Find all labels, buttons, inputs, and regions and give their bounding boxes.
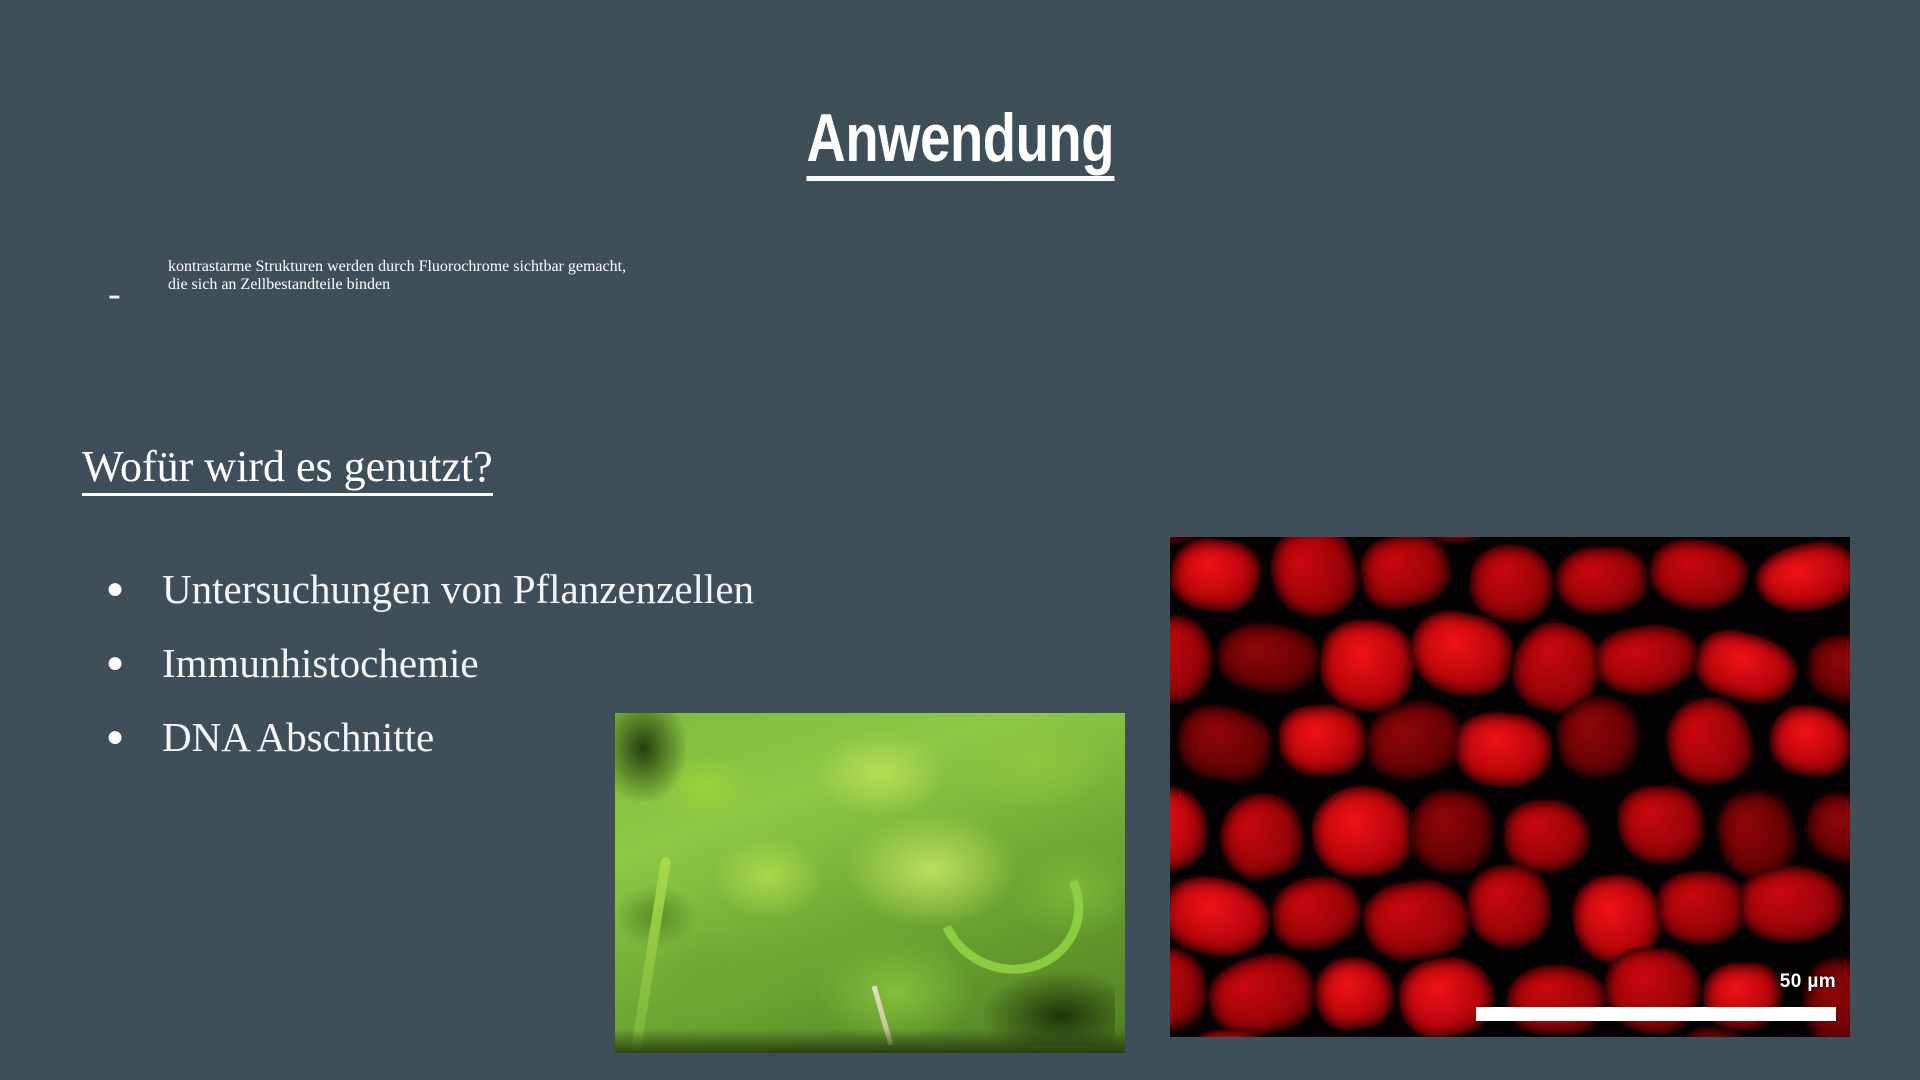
micrograph-cell <box>1216 621 1322 695</box>
micrograph-cell <box>1466 540 1559 626</box>
micrograph-cell <box>1170 943 1210 1037</box>
red-fluorescence-micrograph: 50 µm <box>1170 537 1850 1037</box>
micrograph-cell <box>1766 701 1850 780</box>
intro-paragraph: - kontrastarme Strukturen werden durch F… <box>108 258 1848 331</box>
micrograph-cell <box>1464 861 1554 951</box>
micrograph-cell <box>1659 690 1760 793</box>
micrograph-cell <box>1751 537 1850 619</box>
micrograph-cell <box>1702 962 1783 1032</box>
micrograph-cell <box>1314 613 1420 717</box>
list-item: ● Untersuchungen von Pflanzenzellen <box>92 560 1052 618</box>
micrograph-cell <box>1172 700 1278 789</box>
micrograph-cell <box>1502 537 1619 545</box>
scale-bar-label: 50 µm <box>1780 971 1836 993</box>
micrograph-cell <box>1211 785 1314 889</box>
micrograph-cell <box>1407 787 1496 875</box>
micrograph-cell <box>1502 798 1591 875</box>
page-title-container: Anwendung <box>0 104 1920 181</box>
moss-shadow-top-left <box>615 713 686 801</box>
page-title: Anwendung <box>806 104 1114 181</box>
micrograph-cell <box>1260 537 1368 628</box>
micrograph-cell <box>1311 952 1399 1034</box>
bullet-dot-icon: ● <box>92 708 162 766</box>
presentation-slide: Anwendung - kontrastarme Strukturen werd… <box>0 0 1920 1080</box>
micrograph-cell <box>1800 537 1850 538</box>
micrograph-cell <box>1807 634 1850 702</box>
micrograph-cell <box>1309 782 1417 881</box>
micrograph-cell <box>1507 965 1608 1036</box>
micrograph-cell <box>1262 1036 1365 1037</box>
micrograph-cell <box>1800 788 1850 871</box>
micrograph-cell <box>1394 951 1500 1037</box>
list-item-label: Untersuchungen von Pflanzenzellen <box>162 560 754 618</box>
micrograph-cell <box>1803 957 1850 1037</box>
scale-bar <box>1476 1007 1836 1021</box>
micrograph-cell <box>1170 692 1174 793</box>
moss-ground-shadow <box>615 1029 1125 1053</box>
bullet-dot-icon: ● <box>92 634 162 692</box>
micrograph-cell <box>1739 866 1845 945</box>
micrograph-cell <box>1170 615 1214 704</box>
intro-line-2: die sich an Zellbestandteile binden <box>168 276 626 294</box>
moss-grass-blade <box>630 856 671 1052</box>
micrograph-cell <box>1202 946 1322 1037</box>
micrograph-cell <box>1655 869 1746 947</box>
moss-curled-leaf <box>916 813 1105 996</box>
micrograph-cell <box>1355 537 1456 614</box>
list-item-label: Immunhistochemie <box>162 634 479 692</box>
micrograph-cell <box>1267 870 1367 955</box>
intro-line-1: kontrastarme Strukturen werden durch Flu… <box>168 258 626 276</box>
intro-paragraph-text: kontrastarme Strukturen werden durch Flu… <box>168 258 626 294</box>
micrograph-cell <box>1170 537 1264 616</box>
micrograph-cell <box>1617 785 1706 867</box>
micrograph-cell <box>1645 537 1752 617</box>
section-subheading: Wofür wird es genutzt? <box>82 443 493 496</box>
micrograph-cell <box>1590 618 1703 702</box>
micrograph-cell <box>1359 873 1476 967</box>
green-moss-photo <box>615 713 1125 1053</box>
micrograph-cell <box>1451 707 1557 792</box>
micrograph-cell <box>1603 945 1704 1037</box>
dash-marker-icon: - <box>108 258 168 331</box>
micrograph-cell <box>1556 546 1648 615</box>
bullet-dot-icon: ● <box>92 560 162 618</box>
list-item-label: DNA Abschnitte <box>162 708 434 766</box>
list-item: ● Immunhistochemie <box>92 634 1052 692</box>
micrograph-cell <box>1276 702 1368 779</box>
micrograph-cell <box>1170 786 1208 874</box>
